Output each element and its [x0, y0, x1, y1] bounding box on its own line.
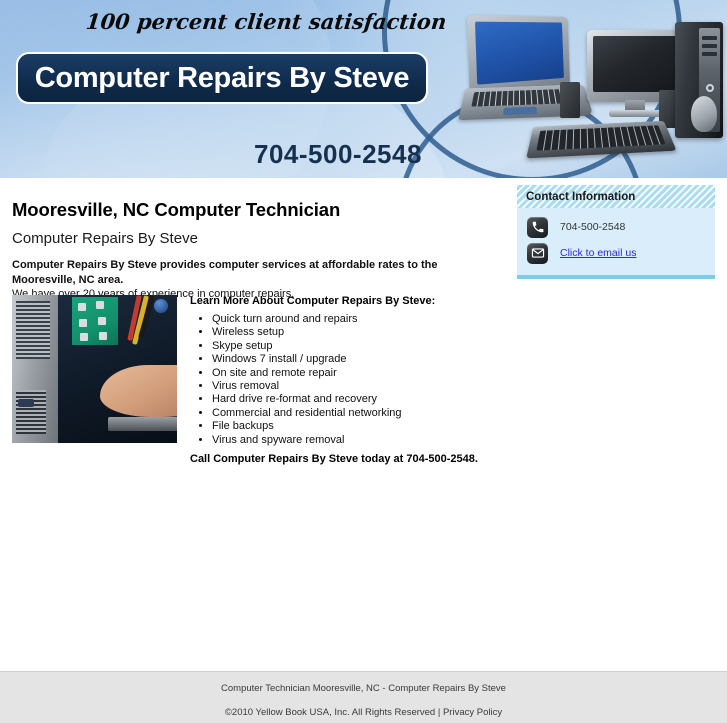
site-logo[interactable]: Computer Repairs By Steve — [16, 52, 428, 104]
contact-phone-row: 704-500-2548 — [517, 214, 715, 240]
tower-power-button — [706, 84, 714, 92]
photo-technician-hand — [100, 365, 177, 417]
contact-box-body: 704-500-2548 Click to email us — [517, 208, 715, 275]
envelope-icon — [527, 243, 548, 264]
list-item: Commercial and residential networking — [212, 407, 402, 420]
keyboard-keys — [536, 125, 665, 150]
tower-drive-bay — [702, 36, 717, 40]
tower-drive-bay — [702, 44, 717, 48]
photo-chip — [79, 319, 87, 327]
phone-icon — [527, 217, 548, 238]
photo-case-vent-upper — [16, 301, 50, 359]
page-title: Mooresville, NC Computer Technician — [12, 199, 340, 221]
tower-drive-bay — [702, 52, 717, 56]
keyboard-illustration — [526, 121, 676, 159]
technician-photo — [12, 295, 177, 443]
page-subtitle: Computer Repairs By Steve — [12, 230, 198, 247]
monitor-foot — [609, 110, 663, 117]
site-logo-text: Computer Repairs By Steve — [35, 62, 409, 95]
services-heading: Learn More About Computer Repairs By Ste… — [190, 295, 435, 307]
banner-computer-photo — [435, 4, 727, 176]
services-list: Quick turn around and repairs Wireless s… — [190, 313, 402, 447]
photo-case-vent-lower — [16, 390, 46, 434]
banner-phone-number: 704-500-2548 — [254, 139, 422, 170]
contact-phone-value: 704-500-2548 — [560, 221, 625, 233]
list-item: On site and remote repair — [212, 367, 402, 380]
monitor-screen — [593, 36, 677, 92]
laptop-keyboard — [471, 89, 569, 107]
email-link[interactable]: Click to email us — [560, 247, 636, 259]
footer-copyright: ©2010 Yellow Book USA, Inc. All Rights R… — [0, 707, 727, 718]
call-to-action-text: Call Computer Repairs By Steve today at … — [190, 453, 478, 465]
photo-chip — [78, 303, 86, 311]
laptop-lid — [467, 15, 570, 93]
contact-box-title: Contact Information — [526, 191, 635, 203]
photo-chip — [80, 333, 88, 341]
list-item: Windows 7 install / upgrade — [212, 353, 402, 366]
photo-blue-component — [154, 299, 168, 313]
contact-box-header: Contact Information — [517, 185, 715, 208]
site-footer: Computer Technician Mooresville, NC - Co… — [0, 671, 727, 723]
list-item: Virus and spyware removal — [212, 434, 402, 447]
photo-chip — [98, 317, 106, 325]
photo-chip — [96, 301, 104, 309]
banner-tagline: 100 percent client satisfaction — [85, 9, 448, 34]
list-item: Quick turn around and repairs — [212, 313, 402, 326]
site-header-banner: 100 percent client satisfaction Computer… — [0, 0, 727, 178]
contact-email-row[interactable]: Click to email us — [517, 240, 715, 266]
photo-case-port — [18, 399, 34, 407]
photo-circuit-board — [72, 297, 118, 345]
mouse-illustration — [691, 96, 717, 132]
list-item: Skype setup — [212, 340, 402, 353]
list-item: Hard drive re-format and recovery — [212, 393, 402, 406]
list-item: Wireless setup — [212, 326, 402, 339]
list-item: File backups — [212, 420, 402, 433]
laptop-screen — [475, 22, 564, 85]
photo-case-interior — [58, 295, 177, 443]
list-item: Virus removal — [212, 380, 402, 393]
photo-chip — [99, 332, 107, 340]
photo-computer-case — [12, 295, 58, 443]
speaker-left — [560, 82, 580, 118]
contact-information-box: Contact Information 704-500-2548 — [517, 185, 715, 279]
footer-site-description: Computer Technician Mooresville, NC - Co… — [0, 683, 727, 694]
photo-drive-tray — [108, 417, 177, 431]
intro-lead-text: Computer Repairs By Steve provides compu… — [12, 259, 437, 286]
laptop-trackpad — [503, 107, 537, 115]
